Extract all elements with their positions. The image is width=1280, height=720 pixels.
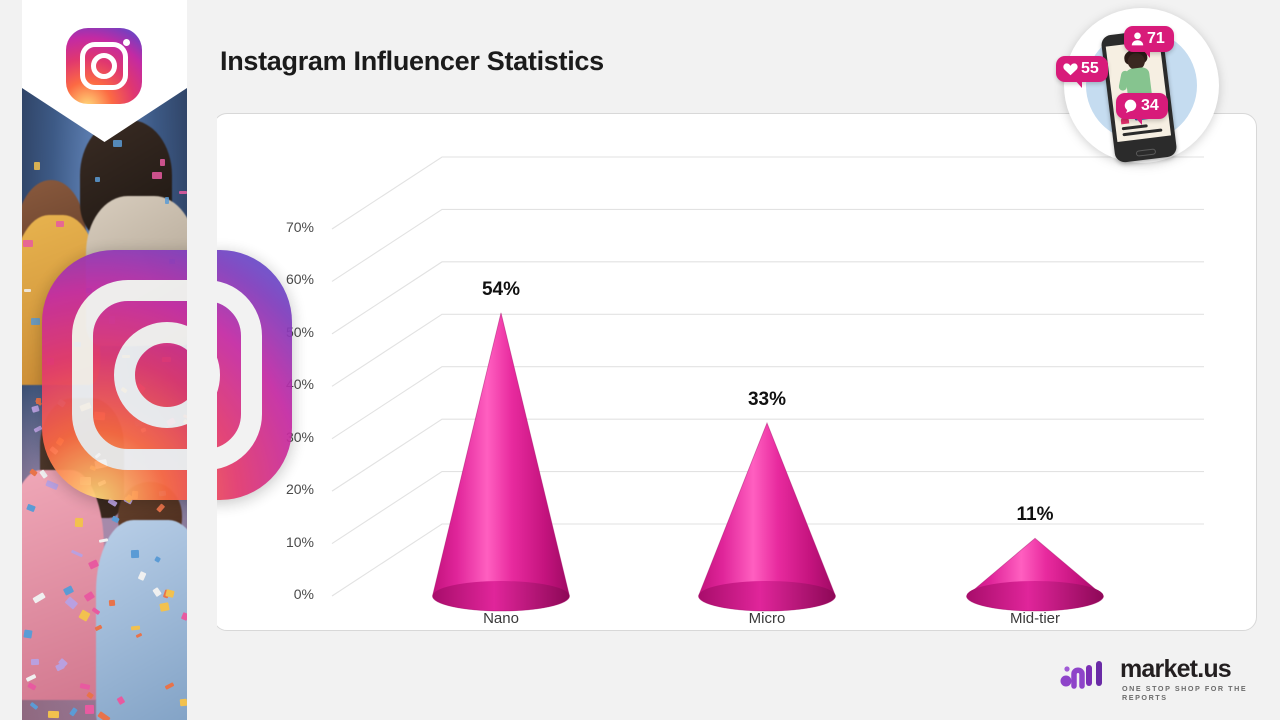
data-label: 33% [707,389,827,411]
likes-count: 55 [1081,60,1099,78]
logo-tagline: ONE STOP SHOP FOR THE REPORTS [1122,684,1260,702]
followers-count: 71 [1147,30,1165,48]
slide-root: Instagram Influencer Statistics [0,0,1280,720]
logo-wordmark: market.us [1120,655,1231,684]
market-us-logo: market.us ONE STOP SHOP FOR THE REPORTS [1060,655,1260,703]
instagram-engagement-pin: 55 71 34 [1064,8,1219,193]
heart-icon [1063,62,1078,76]
instagram-logo-icon [66,28,142,104]
likes-badge: 55 [1056,56,1108,82]
comments-count: 34 [1141,97,1159,115]
person-icon [1131,32,1144,46]
comments-badge: 34 [1116,93,1168,119]
x-tick-label: Nano [421,610,581,627]
data-label: 54% [441,279,561,301]
x-tick-label: Micro [687,610,847,627]
market-us-bars-icon [1060,659,1112,693]
followers-badge: 71 [1124,26,1174,52]
page-title: Instagram Influencer Statistics [220,46,604,77]
x-tick-label: Mid-tier [955,610,1115,627]
y-tick-label: 0% [254,586,314,602]
y-tick-label: 70% [254,219,314,235]
y-tick-label: 10% [254,534,314,550]
comment-icon [1123,99,1138,113]
data-label: 11% [975,504,1095,526]
instagram-glyph-large-icon [42,250,292,500]
